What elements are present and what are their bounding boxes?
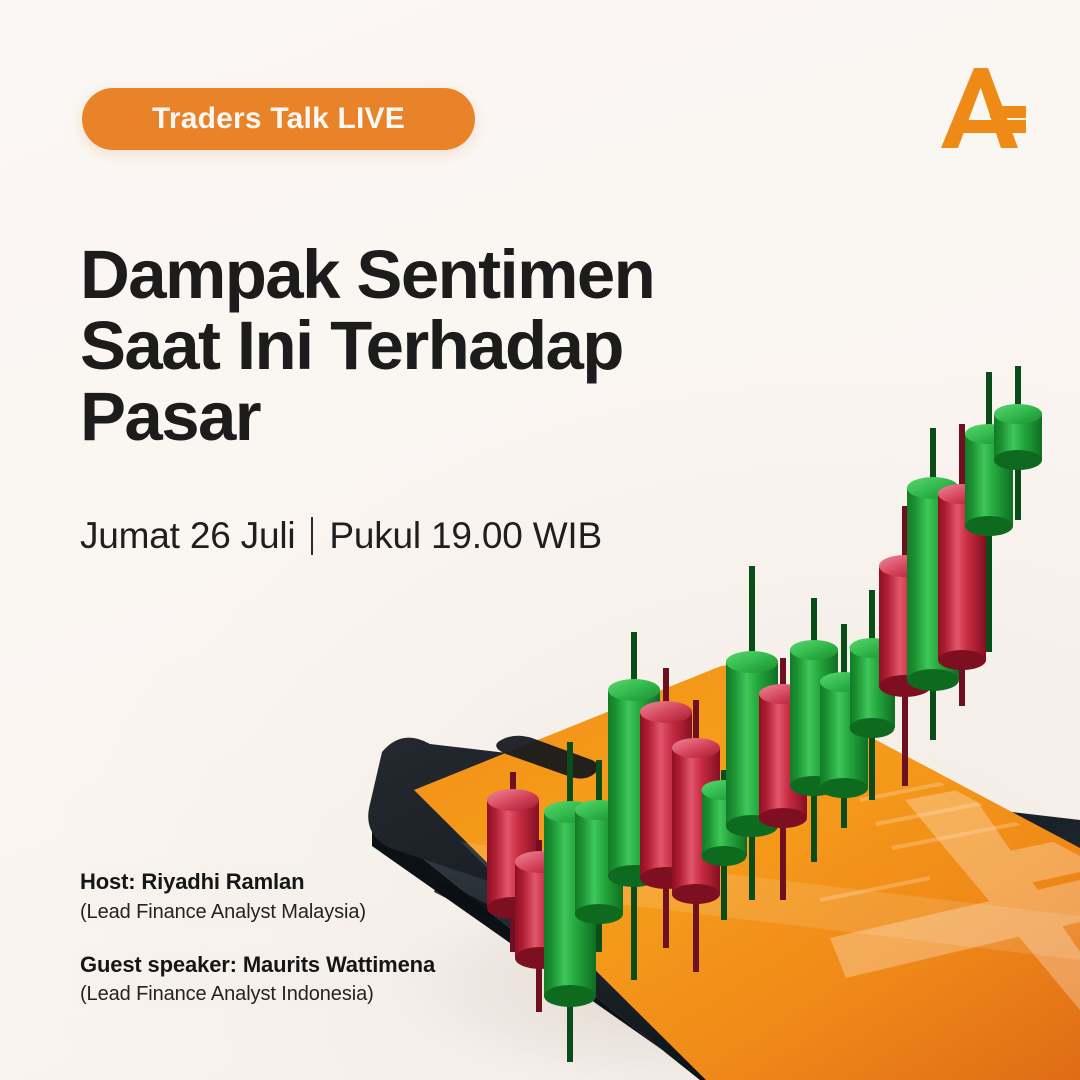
headline-line-3: Pasar xyxy=(80,381,800,452)
phone-shadow xyxy=(360,875,1020,1080)
speaker-credits: Host: Riyadhi Ramlan (Lead Finance Analy… xyxy=(80,868,435,1033)
page-title: Dampak Sentimen Saat Ini Terhadap Pasar xyxy=(80,239,800,452)
headline-line-1: Dampak Sentimen xyxy=(80,239,800,310)
host-role: (Lead Finance Analyst Malaysia) xyxy=(80,900,435,925)
live-session-badge-label: Traders Talk LIVE xyxy=(152,102,405,136)
poster-canvas: Traders Talk LIVE Dampak Sentimen Saat I… xyxy=(0,0,1080,1080)
schedule-line: Jumat 26 Juli Pukul 19.00 WIB xyxy=(80,515,602,557)
alpha-a-logo-icon xyxy=(928,56,1032,160)
alpha-a-logo-watermark-icon xyxy=(830,788,1080,1010)
host-name: Host: Riyadhi Ramlan xyxy=(80,868,435,896)
smartphone-icon xyxy=(368,665,1080,1080)
headline-line-2: Saat Ini Terhadap xyxy=(80,310,800,381)
schedule-divider xyxy=(311,517,313,555)
schedule-time: Pukul 19.00 WIB xyxy=(329,515,602,557)
host-credit: Host: Riyadhi Ramlan (Lead Finance Analy… xyxy=(80,868,435,925)
candlestick-chart-icon xyxy=(487,366,1042,1062)
guest-credit: Guest speaker: Maurits Wattimena (Lead F… xyxy=(80,951,435,1008)
guest-name: Guest speaker: Maurits Wattimena xyxy=(80,951,435,979)
guest-role: (Lead Finance Analyst Indonesia) xyxy=(80,982,435,1007)
live-session-badge[interactable]: Traders Talk LIVE xyxy=(82,88,475,150)
schedule-date: Jumat 26 Juli xyxy=(80,515,295,557)
